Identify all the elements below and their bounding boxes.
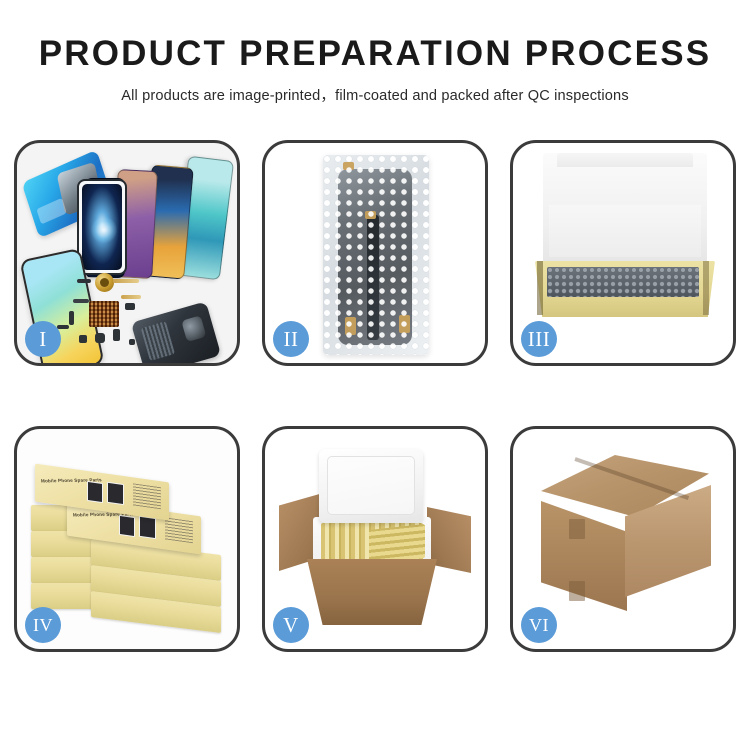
box-inner-wall xyxy=(549,205,701,257)
product-preparation-infographic: PRODUCT PREPARATION PROCESS All products… xyxy=(0,0,750,750)
box-stack: Mobile Phone Spare Parts Mobile Phone Sp… xyxy=(25,447,231,637)
styrofoam-lid xyxy=(319,449,423,523)
lid-spec-lines xyxy=(165,517,193,543)
lid-spec-lines xyxy=(133,483,161,509)
small-part xyxy=(69,311,74,325)
tape-piece xyxy=(343,162,354,170)
small-part xyxy=(125,303,135,310)
lid-window xyxy=(119,515,135,537)
tape-piece xyxy=(365,211,376,219)
packed-boxes-row-2 xyxy=(369,524,425,564)
flex-cable xyxy=(121,295,141,299)
step-2-badge: II xyxy=(273,321,309,357)
step-1-badge: I xyxy=(25,321,61,357)
carton-body xyxy=(307,559,437,625)
step-3-badge: III xyxy=(521,321,557,357)
page-subtitle: All products are image-printed，film-coat… xyxy=(0,84,750,105)
small-part xyxy=(79,335,87,343)
tempered-glass-screen xyxy=(77,179,127,275)
carton-tape-lower xyxy=(569,581,585,601)
bubble-wrap-bag xyxy=(323,155,429,355)
wrapped-part-strip xyxy=(367,215,379,340)
copper-coil-part xyxy=(95,273,114,292)
carton-tape-upper xyxy=(569,519,585,539)
process-step-5[interactable]: V xyxy=(262,426,488,652)
foam-padding xyxy=(547,267,699,297)
small-part xyxy=(77,279,91,283)
process-step-grid: I II xyxy=(14,140,736,682)
process-step-2[interactable]: II xyxy=(262,140,488,366)
lid-window xyxy=(139,516,156,539)
small-part xyxy=(95,333,105,343)
process-step-4[interactable]: Mobile Phone Spare Parts Mobile Phone Sp… xyxy=(14,426,240,652)
lid-window xyxy=(107,482,124,505)
flex-cable xyxy=(73,299,89,303)
step-4-badge: IV xyxy=(25,607,61,643)
box-edge-right xyxy=(703,261,709,315)
chip-array-part xyxy=(89,301,119,327)
small-part xyxy=(129,339,135,345)
box-edge-left xyxy=(537,261,543,315)
process-step-1[interactable]: I xyxy=(14,140,240,366)
page-title: PRODUCT PREPARATION PROCESS xyxy=(0,36,750,73)
flex-cable xyxy=(113,279,139,283)
tape-piece xyxy=(345,317,356,335)
step-5-badge: V xyxy=(273,607,309,643)
phone-back-housing xyxy=(131,301,221,363)
process-step-3[interactable]: III xyxy=(510,140,736,366)
lid-window xyxy=(87,481,103,503)
tape-piece xyxy=(399,315,410,333)
step-6-badge: VI xyxy=(521,607,557,643)
process-step-6[interactable]: VI xyxy=(510,426,736,652)
small-part xyxy=(113,329,120,341)
small-part xyxy=(57,325,69,329)
header: PRODUCT PREPARATION PROCESS All products… xyxy=(0,0,750,105)
